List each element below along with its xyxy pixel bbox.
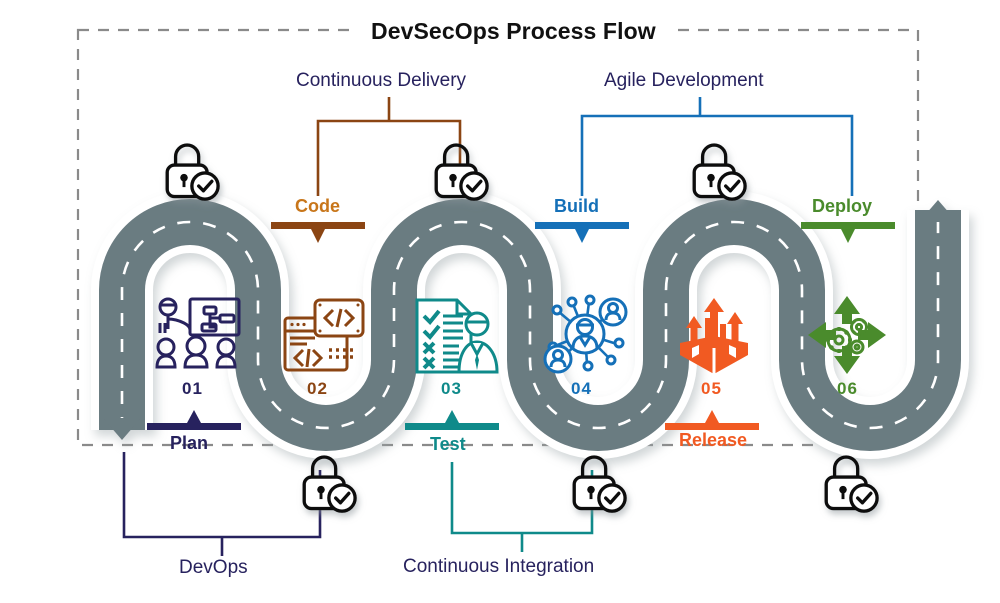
- banner-test: [405, 410, 499, 430]
- devsecops-process-flow-diagram: DevSecOps Process Flow Continuous Delive…: [0, 0, 1000, 603]
- lock-check-icon-build: [574, 457, 625, 511]
- checklist-person-icon: [417, 300, 497, 372]
- stage-number-01: 01: [182, 379, 203, 399]
- bracket-continuous-integration: [452, 462, 592, 552]
- group-label-continuous-delivery: Continuous Delivery: [296, 70, 466, 92]
- stage-label-test: Test: [430, 434, 466, 455]
- bracket-devops: [124, 452, 320, 556]
- lock-check-icon-test: [436, 145, 487, 199]
- group-label-agile-development: Agile Development: [604, 70, 763, 92]
- presentation-people-icon: [157, 299, 239, 367]
- lock-check-icon-release: [694, 145, 745, 199]
- lock-check-icon-code: [304, 457, 355, 511]
- code-window-icon: [285, 300, 363, 370]
- stage-number-05: 05: [701, 379, 722, 399]
- lock-check-icon-deploy: [826, 457, 877, 511]
- stage-label-deploy: Deploy: [812, 196, 872, 217]
- page-title: DevSecOps Process Flow: [371, 18, 656, 45]
- stage-label-build: Build: [554, 196, 599, 217]
- diagram-canvas: [0, 0, 1000, 603]
- group-label-continuous-integration: Continuous Integration: [403, 556, 594, 578]
- stage-number-04: 04: [571, 379, 592, 399]
- banner-build: [535, 222, 629, 243]
- stage-number-02: 02: [307, 379, 328, 399]
- banner-code: [271, 222, 365, 243]
- stage-label-plan: Plan: [170, 433, 208, 454]
- road-path: [103, 200, 957, 440]
- stage-label-release: Release: [679, 430, 747, 451]
- stage-number-06: 06: [837, 379, 858, 399]
- lock-check-icon-plan: [167, 145, 218, 199]
- banner-plan: [147, 410, 241, 430]
- stage-number-03: 03: [441, 379, 462, 399]
- stage-label-code: Code: [295, 196, 340, 217]
- group-label-devops: DevOps: [179, 557, 248, 579]
